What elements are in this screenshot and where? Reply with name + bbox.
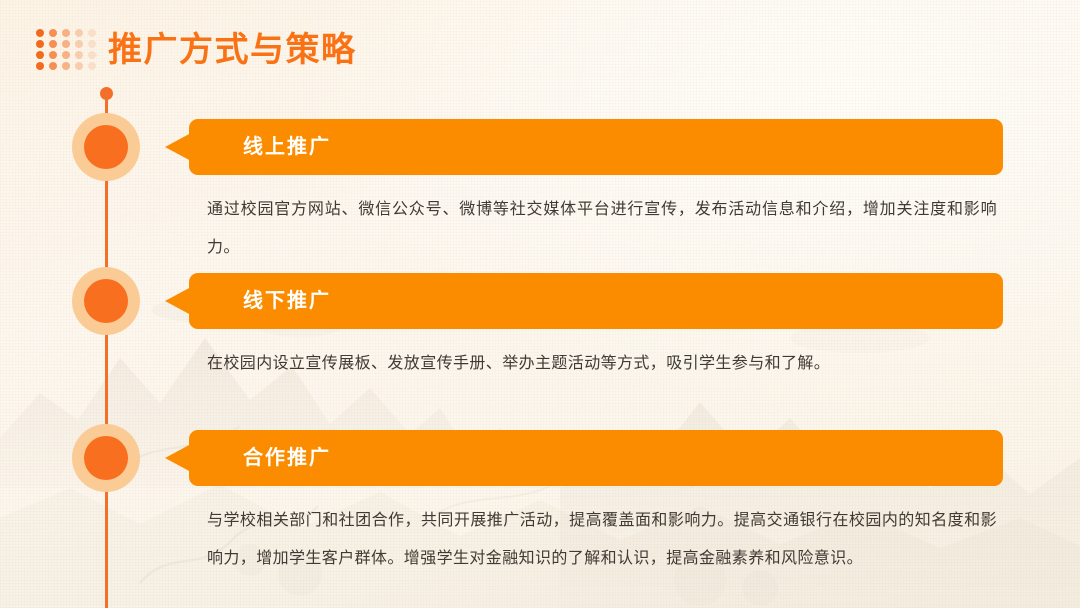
dot-grid-decoration [36,29,101,73]
section-banner-2[interactable]: 线下推广 [165,273,1003,329]
section-banner-1[interactable]: 线上推广 [165,119,1003,175]
banner-arrow-icon [165,287,191,315]
page-title: 推广方式与策略 [108,27,357,73]
section-label-2: 线下推广 [243,273,331,329]
section-label-1: 线上推广 [243,119,331,175]
timeline-node-3 [72,424,140,492]
banner-arrow-icon [165,133,191,161]
timeline-node-1 [72,113,140,181]
section-body-1: 通过校园官方网站、微信公众号、微博等社交媒体平台进行宣传，发布活动信息和介绍，增… [207,191,997,267]
slide-header: 推广方式与策略 [0,0,1080,92]
section-label-3: 合作推广 [243,430,331,486]
timeline-node-2 [72,267,140,335]
section-body-2: 在校园内设立宣传展板、发放宣传手册、举办主题活动等方式，吸引学生参与和了解。 [207,345,997,383]
banner-arrow-icon [165,444,191,472]
section-body-3: 与学校相关部门和社团合作，共同开展推广活动，提高覆盖面和影响力。提高交通银行在校… [207,502,997,578]
slide-canvas: 推广方式与策略 线上推广 通过校园官方网站、微信公众号、微博等社交媒体平台进行宣… [0,0,1080,608]
section-banner-3[interactable]: 合作推广 [165,430,1003,486]
